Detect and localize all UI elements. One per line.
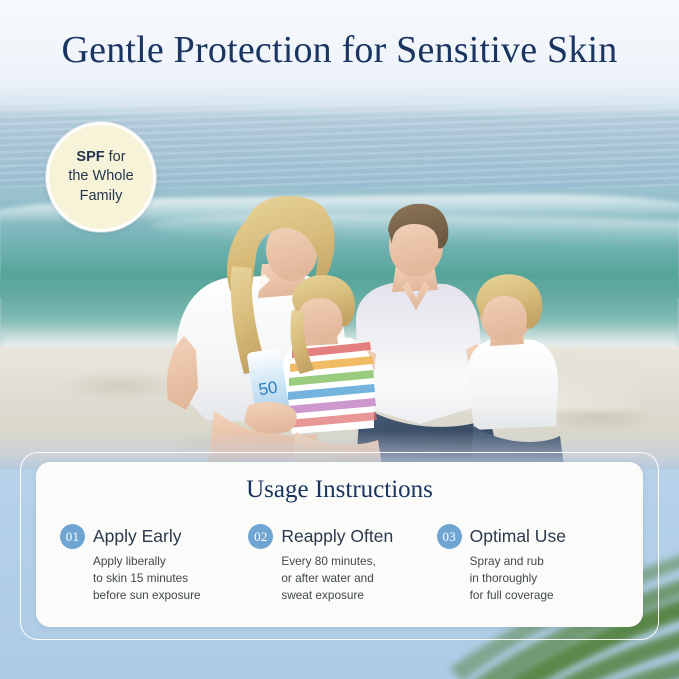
instruction-step-01: 01 Apply Early Apply liberally to skin 1…: [60, 524, 248, 604]
panel-title: Usage Instructions: [36, 476, 643, 504]
step-number-badge: 01: [60, 524, 85, 549]
step-header: 01 Apply Early: [60, 524, 248, 549]
spf-badge-line2: the Whole: [68, 168, 133, 184]
step-header: 02 Reapply Often: [248, 524, 436, 549]
instruction-steps: 01 Apply Early Apply liberally to skin 1…: [60, 524, 625, 604]
spf-badge-strong: SPF: [76, 149, 104, 165]
step-title: Optimal Use: [470, 526, 566, 547]
step-title: Reapply Often: [281, 526, 393, 547]
step-title: Apply Early: [93, 526, 182, 547]
spf-badge-line1-rest: for: [105, 149, 126, 165]
step-description: Apply liberally to skin 15 minutes befor…: [93, 553, 248, 604]
instruction-panel-card: Usage Instructions 01 Apply Early Apply …: [36, 462, 643, 627]
step-number-badge: 03: [437, 524, 462, 549]
svg-text:50: 50: [257, 378, 279, 400]
spf-badge-line3: Family: [80, 188, 123, 204]
step-description: Spray and rub in thoroughly for full cov…: [470, 553, 625, 604]
step-description: Every 80 minutes, or after water and swe…: [281, 553, 436, 604]
spf-badge-text: SPF for the Whole Family: [68, 148, 133, 206]
spf-badge: SPF for the Whole Family: [46, 122, 156, 232]
step-header: 03 Optimal Use: [437, 524, 625, 549]
instruction-step-03: 03 Optimal Use Spray and rub in thorough…: [437, 524, 625, 604]
poster-root: 50 Gentle Protection for Sensitive: [0, 0, 679, 679]
page-title: Gentle Protection for Sensitive Skin: [0, 28, 679, 72]
step-number-badge: 02: [248, 524, 273, 549]
instruction-step-02: 02 Reapply Often Every 80 minutes, or af…: [248, 524, 436, 604]
